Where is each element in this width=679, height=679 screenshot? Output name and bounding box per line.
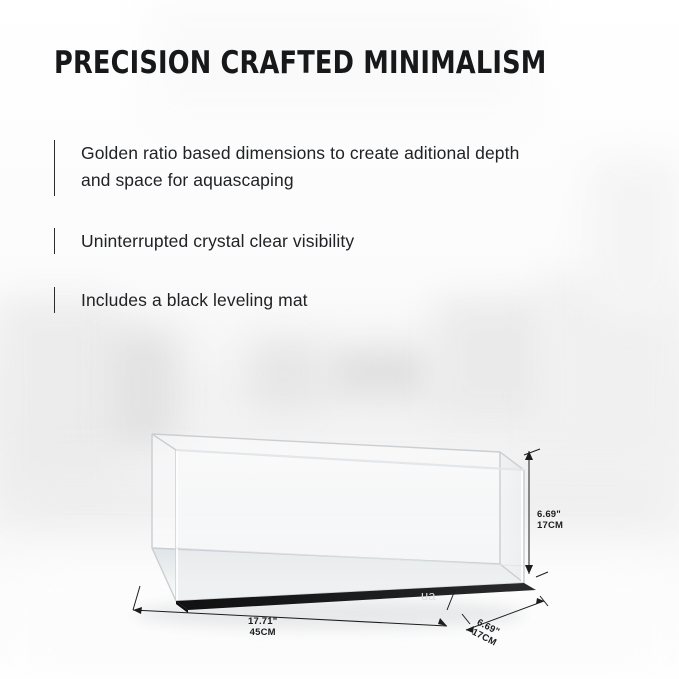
feature-text: Uninterrupted crystal clear visibility [81,228,354,255]
page-title: PRECISION CRAFTED MINIMALISM [54,44,546,82]
background-shape [590,160,679,320]
background-shape [0,560,679,679]
background-shape [0,470,679,530]
feature-rule [54,228,55,254]
feature-rule [54,140,55,196]
product-infographic: PRECISION CRAFTED MINIMALISM Golden rati… [0,0,679,679]
feature-item: Includes a black leveling mat [54,287,594,314]
background-shape [330,352,430,392]
feature-list: Golden ratio based dimensions to create … [54,140,594,346]
background-shape [108,330,178,450]
feature-text: Includes a black leveling mat [81,287,308,314]
background-shape [250,340,320,410]
feature-item: Golden ratio based dimensions to create … [54,140,594,196]
feature-text: Golden ratio based dimensions to create … [81,140,551,194]
feature-item: Uninterrupted crystal clear visibility [54,228,594,255]
feature-rule [54,287,55,313]
